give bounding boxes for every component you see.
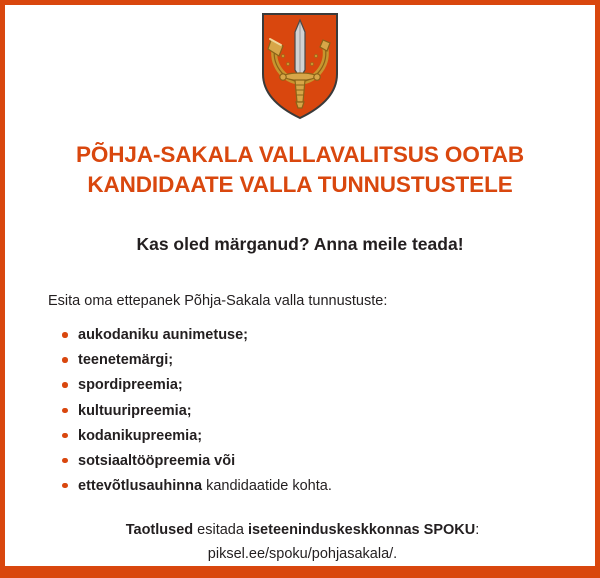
bullet-dot-icon: [62, 483, 68, 489]
title-line-1: PÕHJA-SAKALA VALLAVALITSUS OOTAB: [40, 140, 560, 170]
bullet-dot-icon: [62, 357, 68, 363]
criteria-list: aukodaniku aunimetuse; teenetemärgi; spo…: [48, 325, 565, 496]
bullet-dot-icon: [62, 382, 68, 388]
list-item-label: aukodaniku aunimetuse;: [78, 327, 248, 343]
spoku-url[interactable]: piksel.ee/spoku/pohjasakala/.: [48, 543, 557, 566]
bullet-dot-icon: [62, 458, 68, 464]
apply-bold-1: Taotlused: [126, 522, 193, 538]
list-item: teenetemärgi;: [48, 350, 565, 371]
list-item-label: kultuuripreemia;: [78, 403, 192, 419]
list-item-label: sotsiaaltööpreemia või: [78, 453, 235, 469]
list-item: sotsiaaltööpreemia või: [48, 451, 565, 472]
page-title: PÕHJA-SAKALA VALLAVALITSUS OOTAB KANDIDA…: [40, 140, 560, 199]
apply-bold-2: iseteeninduskeskkonnas SPOKU: [248, 522, 475, 538]
list-item-label: teenetemärgi;: [78, 352, 173, 368]
list-item: spordipreemia;: [48, 375, 565, 396]
intro-text: Esita oma ettepanek Põhja-Sakala valla t…: [48, 292, 565, 311]
title-line-2: KANDIDAATE VALLA TUNNUSTUSTELE: [40, 170, 560, 200]
apply-regular-2: :: [475, 522, 479, 538]
list-item-label: spordipreemia;: [78, 377, 183, 393]
list-item-label: ettevõtlusauhinna: [78, 478, 202, 494]
poster-content: PÕHJA-SAKALA VALLAVALITSUS OOTAB KANDIDA…: [5, 5, 595, 566]
deadline-footer-bar: Tunnustuse avaldamise ettepanekuid oodat…: [5, 566, 595, 578]
bullet-dot-icon: [62, 332, 68, 338]
announcement-poster: PÕHJA-SAKALA VALLAVALITSUS OOTAB KANDIDA…: [0, 0, 600, 578]
bullet-dot-icon: [62, 433, 68, 439]
coat-of-arms-icon: [261, 12, 339, 120]
list-item: kodanikupreemia;: [48, 426, 565, 447]
bullet-dot-icon: [62, 408, 68, 414]
subtitle: Kas oled märganud? Anna meile teada!: [136, 234, 463, 255]
list-item: ettevõtlusauhinna kandidaatide kohta.: [48, 476, 565, 497]
apply-regular-1: esitada: [193, 522, 248, 538]
list-item: aukodaniku aunimetuse;: [48, 325, 565, 346]
list-item-suffix: kandidaatide kohta.: [202, 478, 332, 494]
list-item-label: kodanikupreemia;: [78, 428, 202, 444]
body-block: Esita oma ettepanek Põhja-Sakala valla t…: [5, 277, 595, 566]
list-item: kultuuripreemia;: [48, 401, 565, 422]
application-instructions: Taotlused esitada iseteeninduskeskkonnas…: [48, 519, 565, 566]
